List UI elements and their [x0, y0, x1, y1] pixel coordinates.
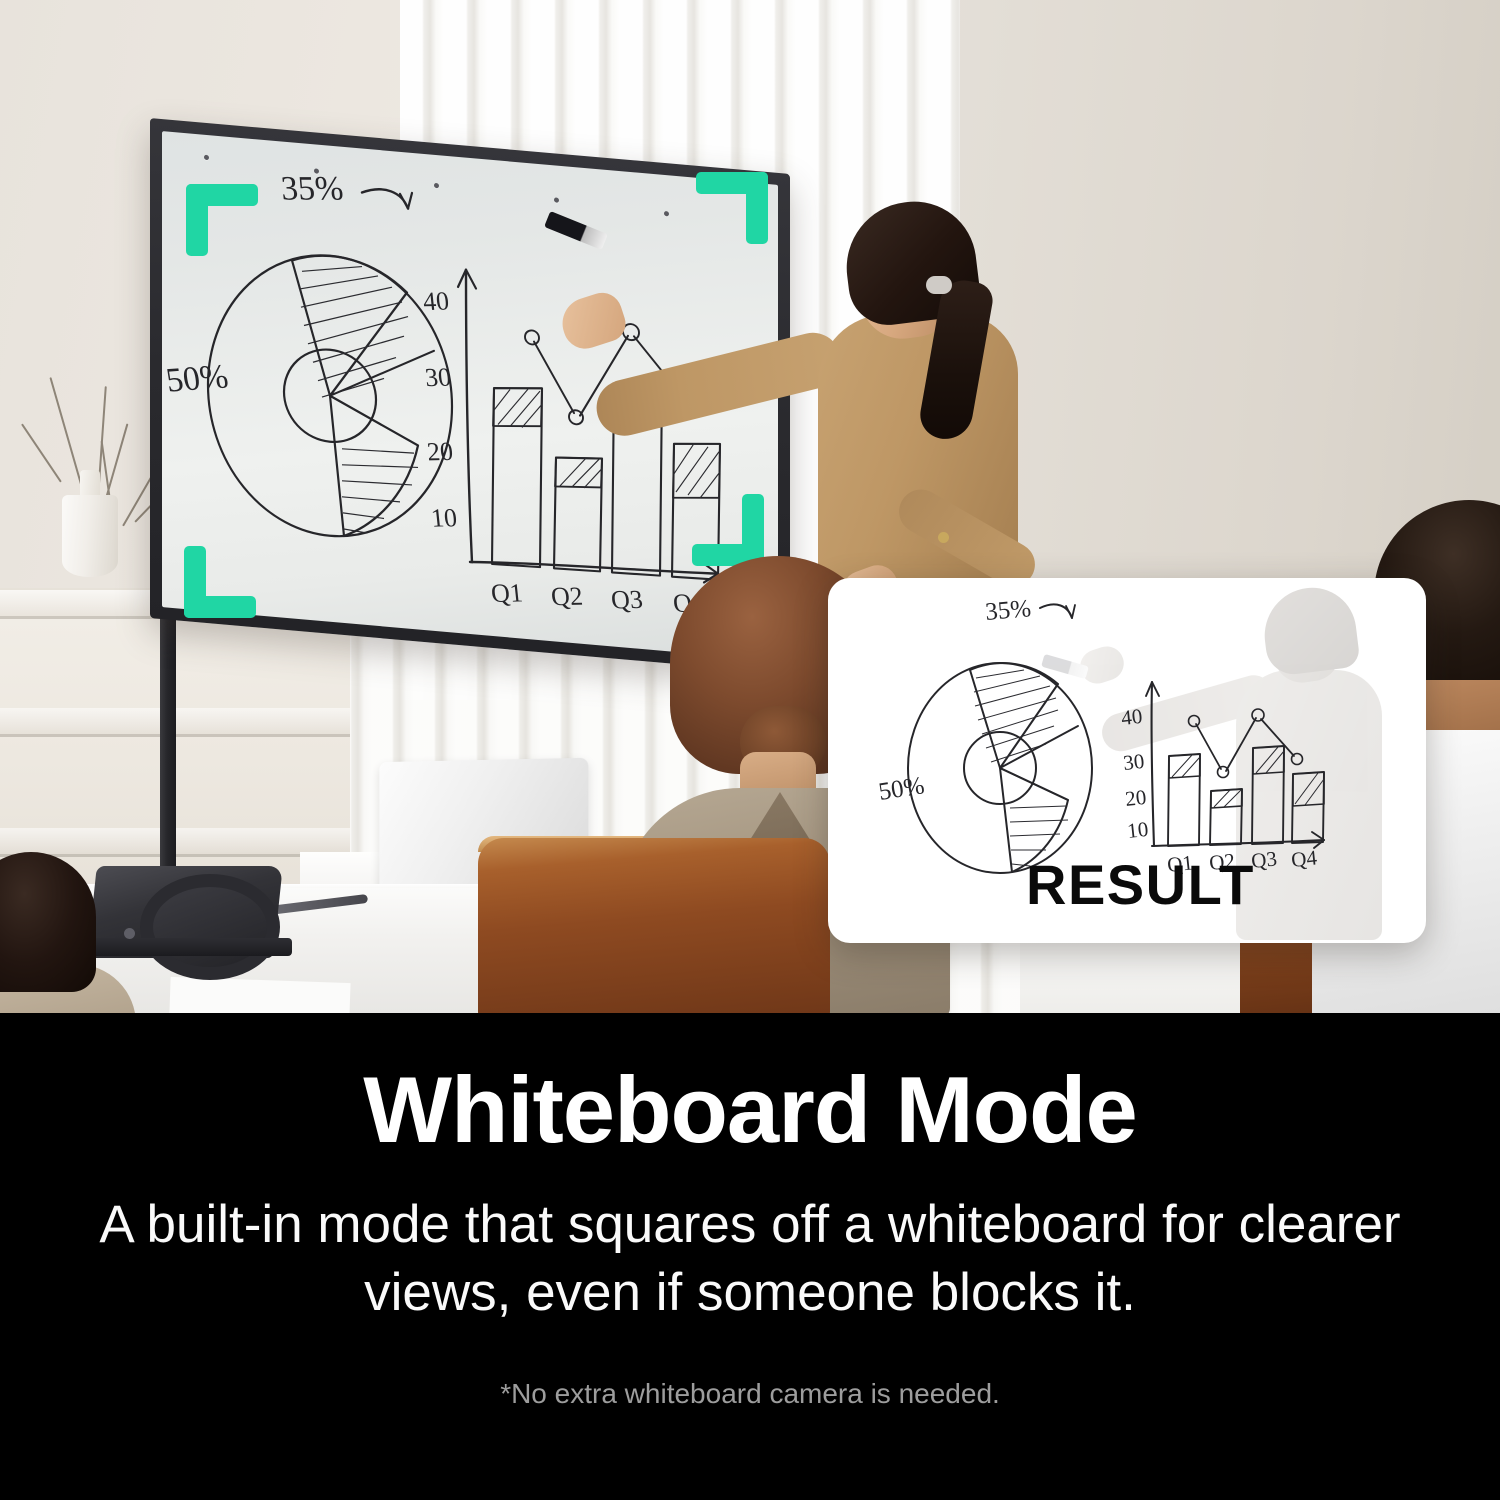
- svg-text:Q1: Q1: [490, 578, 525, 608]
- audience-left-hair: [0, 852, 96, 992]
- speakerphone-ring: [140, 874, 280, 980]
- presenter-sleeve-button: [938, 532, 949, 543]
- svg-text:50%: 50%: [877, 772, 926, 806]
- presenter-hair-tie: [926, 276, 952, 294]
- paper-sheet-2: [169, 977, 350, 1013]
- meeting-room-photo: 35% 50% 40 30 20 10: [0, 0, 1500, 1013]
- page-subtitle: A built-in mode that squares off a white…: [60, 1191, 1440, 1327]
- corner-marker-top-right: [696, 172, 768, 244]
- decor-vase: [62, 495, 118, 577]
- svg-text:10: 10: [430, 503, 459, 533]
- corner-marker-top-left: [186, 184, 258, 256]
- result-bar-chart: 40 30 20 10: [1120, 682, 1324, 877]
- pie-label-35: 35%: [279, 170, 344, 207]
- result-pie-chart: 35% 50%: [877, 595, 1092, 873]
- pie-label-50: 50%: [163, 358, 230, 399]
- svg-text:40: 40: [422, 286, 451, 316]
- svg-text:Q2: Q2: [550, 582, 585, 612]
- page-title: Whiteboard Mode: [0, 1061, 1500, 1160]
- caption-panel: Whiteboard Mode A built-in mode that squ…: [0, 1013, 1500, 1500]
- svg-text:30: 30: [1122, 749, 1145, 775]
- svg-text:40: 40: [1120, 704, 1143, 730]
- svg-text:30: 30: [424, 363, 453, 393]
- svg-text:20: 20: [1124, 785, 1147, 811]
- page-footnote: *No extra whiteboard camera is needed.: [0, 1378, 1500, 1410]
- svg-text:35%: 35%: [984, 595, 1032, 626]
- promo-page: 35% 50% 40 30 20 10: [0, 0, 1500, 1500]
- corner-marker-bottom-left: [184, 546, 256, 618]
- audience-left-person: [0, 852, 126, 1013]
- svg-text:Q4: Q4: [1290, 845, 1319, 872]
- svg-text:10: 10: [1126, 817, 1149, 843]
- chair-center: [478, 838, 830, 1013]
- result-label: RESULT: [1026, 857, 1255, 913]
- svg-text:20: 20: [426, 437, 455, 467]
